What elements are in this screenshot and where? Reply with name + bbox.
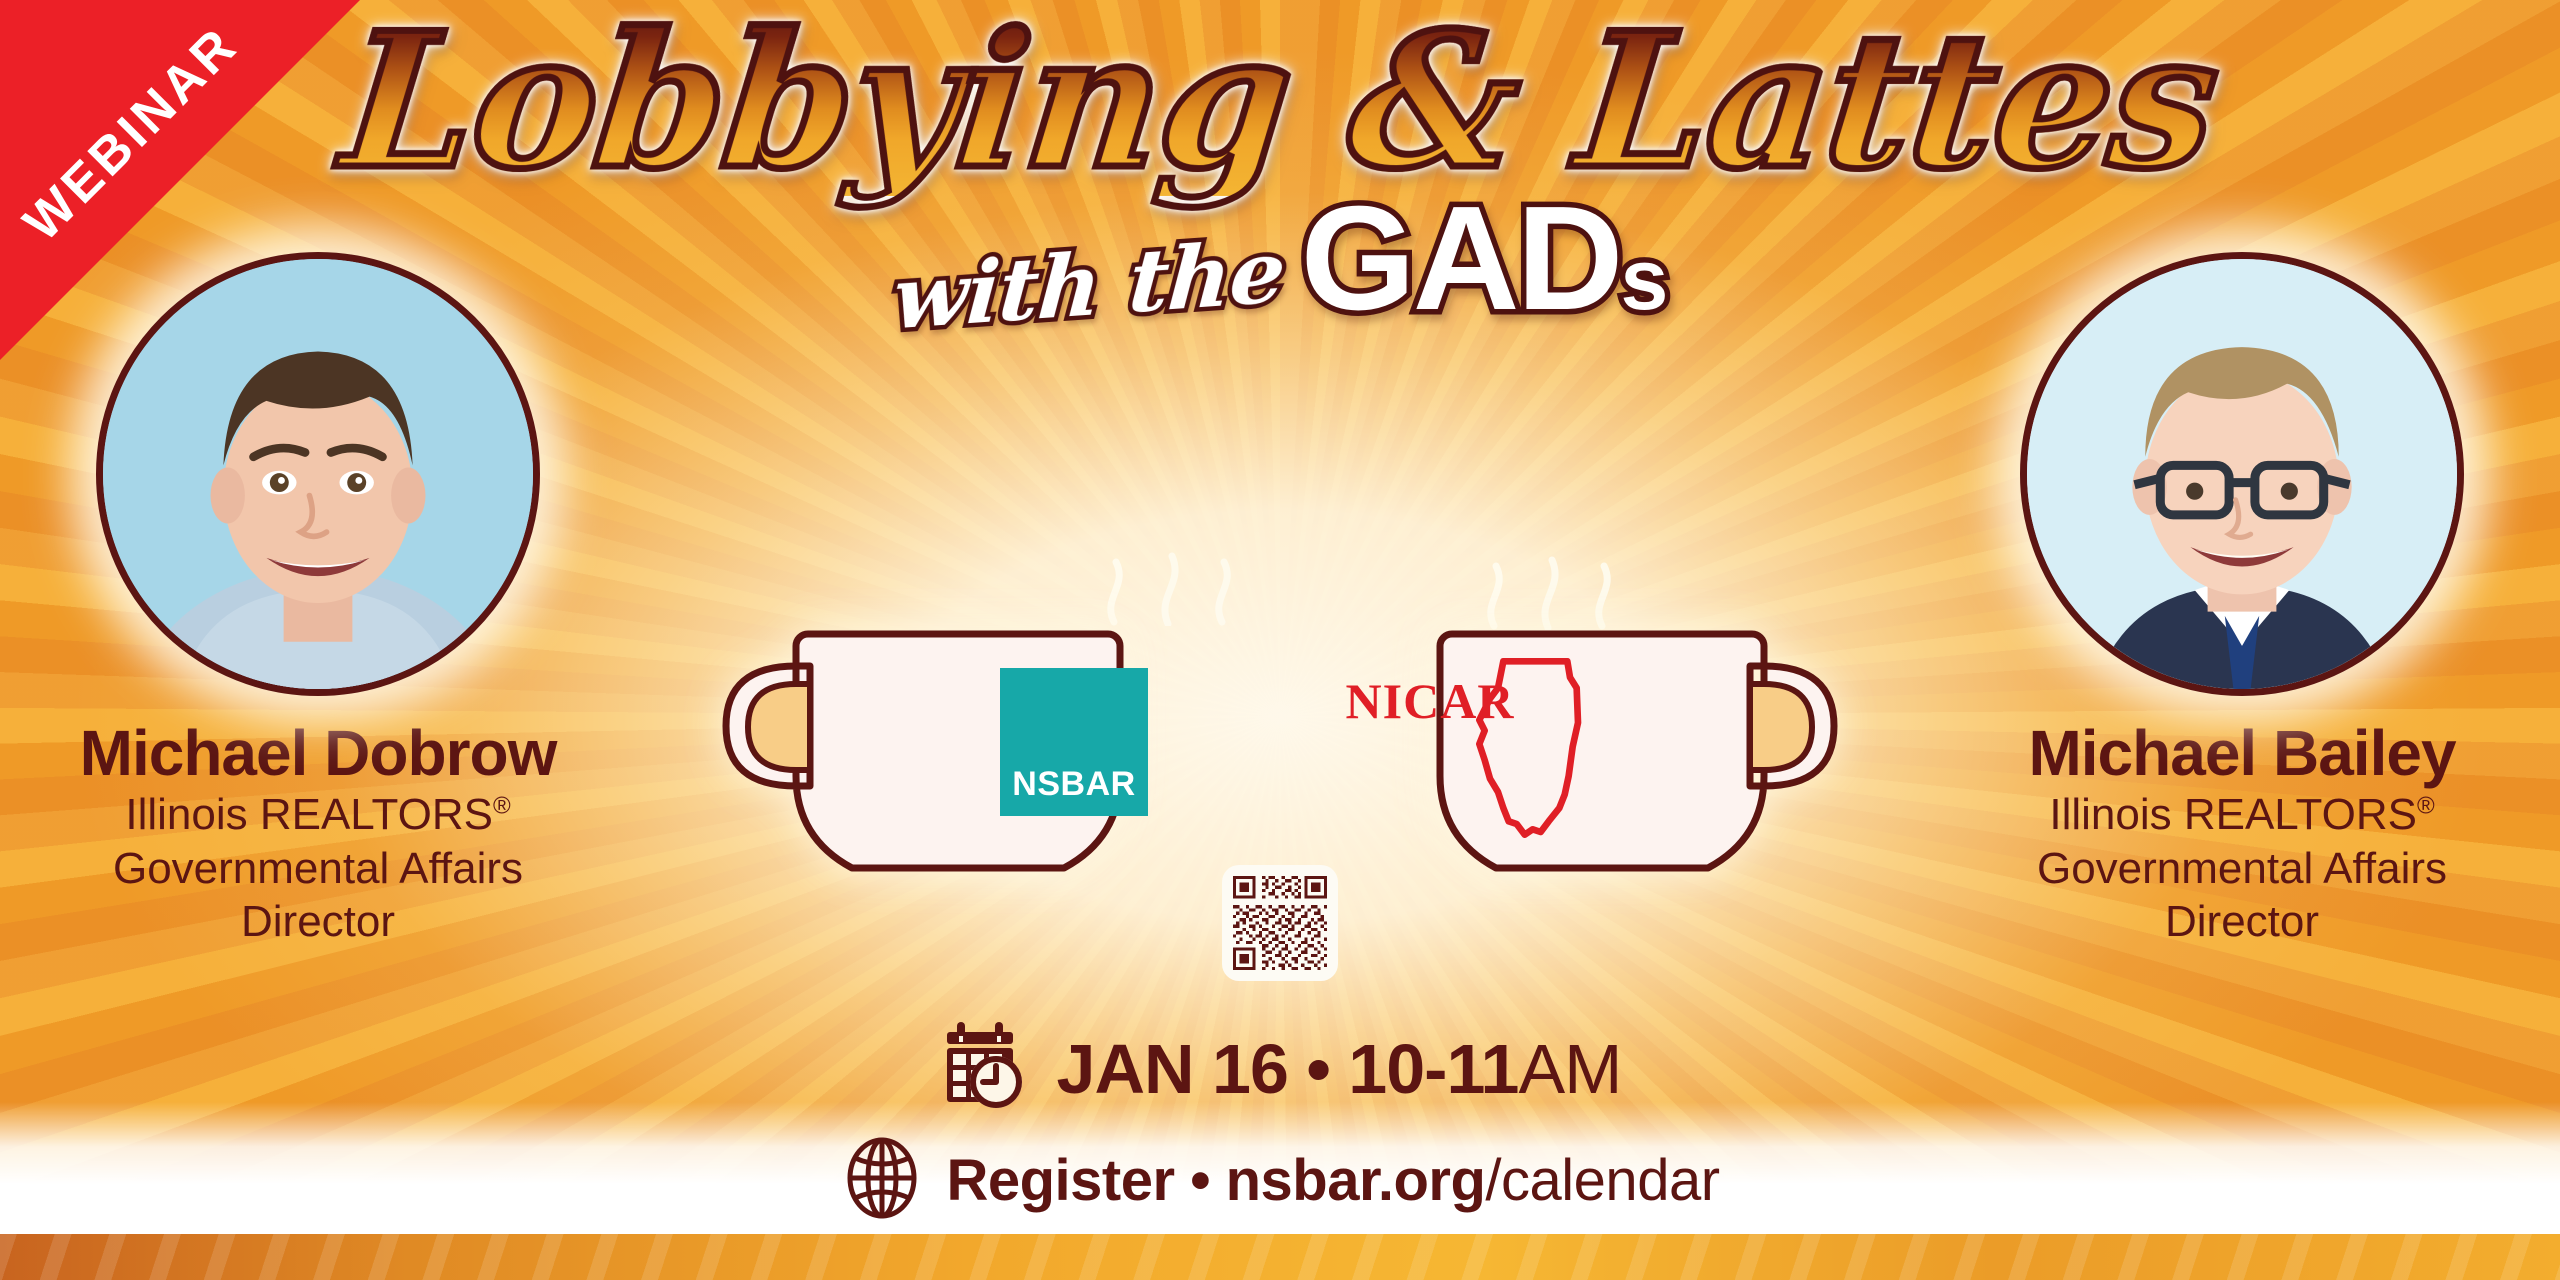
avatar [96, 252, 540, 696]
nsbar-logo: NSBAR [1000, 668, 1148, 816]
register-row[interactable]: Register • nsbar.org/calendar [780, 1136, 1780, 1225]
event-date-text: JAN 16 • 10-11AM [1057, 1029, 1622, 1109]
globe-icon [840, 1136, 924, 1225]
date-meridiem: AM [1518, 1030, 1621, 1108]
date-time: 10-11 [1348, 1030, 1518, 1108]
registered-mark: ® [2417, 792, 2435, 819]
speaker-name: Michael Bailey [1952, 720, 2532, 788]
speaker-org-text: Illinois REALTORS [125, 790, 493, 839]
mug-nsbar: NSBAR [700, 600, 1260, 880]
register-path: /calendar [1485, 1148, 1719, 1213]
date-separator: • [1306, 1030, 1330, 1108]
speaker-role-line2: Director [28, 895, 608, 949]
page-title: Lobbying & Lattes [0, 6, 2560, 196]
bottom-orange-band [0, 1234, 2560, 1280]
qr-code[interactable] [1225, 868, 1335, 978]
speaker-role-line1: Governmental Affairs [1952, 842, 2532, 896]
speaker-role-line1: Governmental Affairs [28, 842, 608, 896]
register-text[interactable]: Register • nsbar.org/calendar [946, 1147, 1719, 1214]
mug-nicar: NICAR [1300, 600, 1860, 880]
register-domain: nsbar.org [1226, 1148, 1486, 1213]
register-separator: • [1190, 1148, 1210, 1213]
register-label: Register [946, 1148, 1174, 1213]
registered-mark: ® [493, 792, 511, 819]
speaker-org-text: Illinois REALTORS [2049, 790, 2417, 839]
date-month-day: JAN 16 [1057, 1030, 1288, 1108]
speaker-card-left: Michael Dobrow Illinois REALTORS® Govern… [28, 252, 608, 949]
speaker-org: Illinois REALTORS® [28, 788, 608, 842]
speaker-name: Michael Dobrow [28, 720, 608, 788]
webinar-promo-poster: WEBINAR Lobbying & Lattes with theGADs [0, 0, 2560, 1280]
event-date-row: JAN 16 • 10-11AM [780, 1018, 1780, 1119]
speaker-org: Illinois REALTORS® [1952, 788, 2532, 842]
gads-word: GAD [1301, 176, 1621, 341]
nicar-logo-text: NICAR [1330, 672, 1530, 730]
speaker-role-line2: Director [1952, 895, 2532, 949]
avatar [2020, 252, 2464, 696]
subtitle-with-the: with the [890, 221, 1288, 349]
gads-suffix: s [1620, 232, 1665, 328]
coffee-mugs: NSBAR NICAR [700, 600, 1860, 880]
nsbar-logo-text: NSBAR [1012, 765, 1135, 804]
calendar-clock-icon [939, 1018, 1035, 1119]
speaker-card-right: Michael Bailey Illinois REALTORS® Govern… [1952, 252, 2532, 949]
subtitle-gads: GADs [1301, 174, 1666, 344]
